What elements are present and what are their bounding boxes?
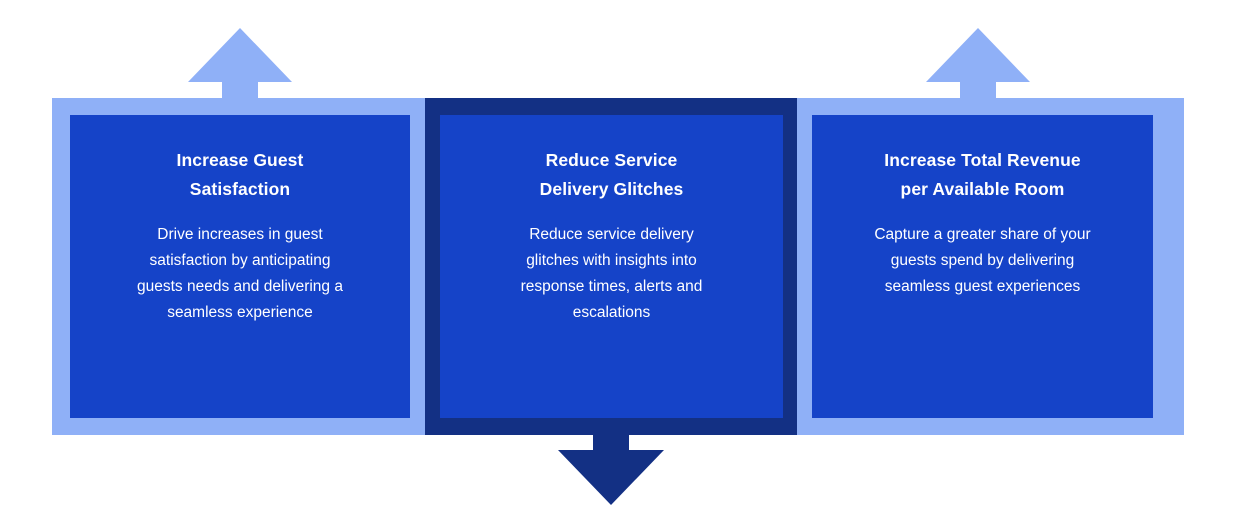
- arrow-shaft: [960, 82, 996, 99]
- card-increase-guest-satisfaction[interactable]: Increase Guest Satisfaction Drive increa…: [70, 115, 410, 418]
- card-title: Reduce Service Delivery Glitches: [540, 146, 684, 204]
- card-reduce-service-delivery-glitches[interactable]: Reduce Service Delivery Glitches Reduce …: [440, 115, 783, 418]
- diagram-canvas: Increase Guest Satisfaction Drive increa…: [0, 0, 1236, 531]
- card-body: Reduce service delivery glitches with in…: [521, 222, 703, 326]
- card-body: Drive increases in guest satisfaction by…: [137, 222, 343, 326]
- arrow-head: [188, 28, 292, 82]
- arrow-shaft: [222, 82, 258, 99]
- arrow-up-icon-left: [188, 28, 292, 99]
- arrow-head: [558, 450, 664, 505]
- outcomes-band: Increase Guest Satisfaction Drive increa…: [52, 98, 1184, 435]
- arrow-shaft: [593, 434, 629, 450]
- arrow-head: [926, 28, 1030, 82]
- card-increase-total-revenue-per-available-room[interactable]: Increase Total Revenue per Available Roo…: [812, 115, 1153, 418]
- arrow-down-icon: [558, 434, 664, 505]
- card-body: Capture a greater share of your guests s…: [874, 222, 1090, 300]
- card-title: Increase Total Revenue per Available Roo…: [884, 146, 1080, 204]
- card-title: Increase Guest Satisfaction: [177, 146, 304, 204]
- arrow-up-icon-right: [926, 28, 1030, 99]
